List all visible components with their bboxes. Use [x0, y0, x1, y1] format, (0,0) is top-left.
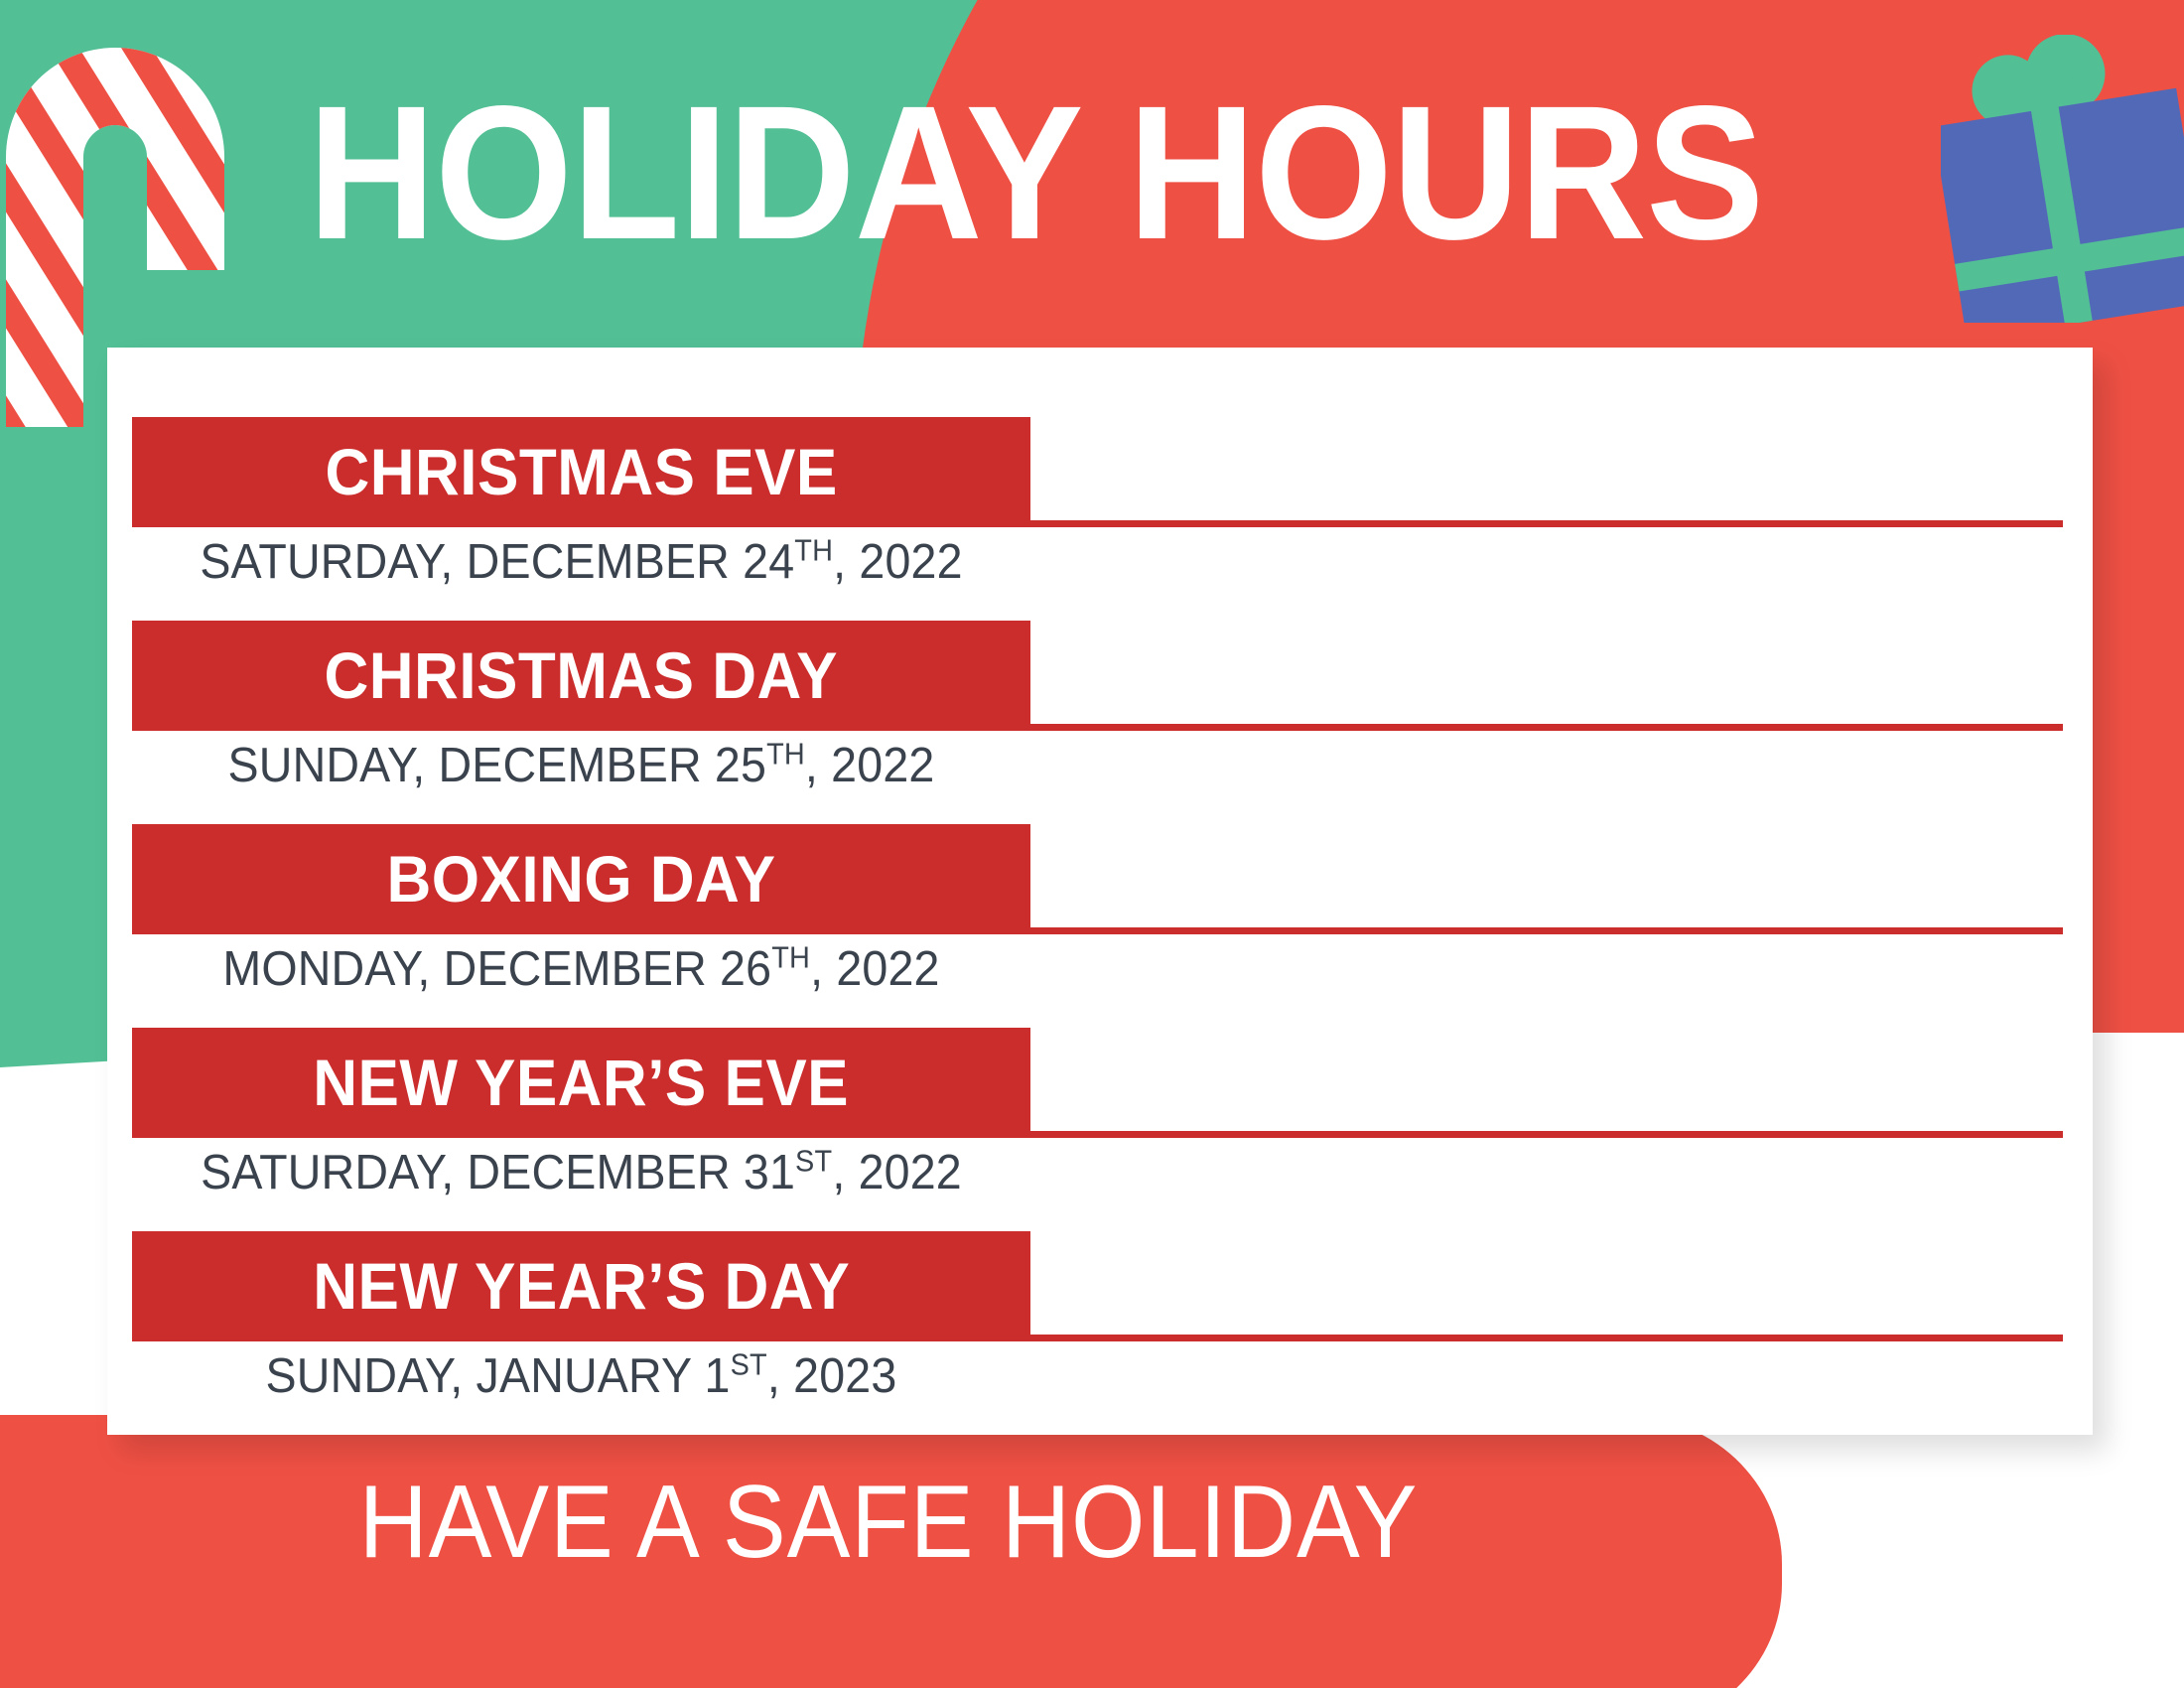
date-year: , 2022 [833, 535, 963, 589]
holiday-date: MONDAY, DECEMBER 26TH, 2022 [155, 937, 1009, 1001]
tagline: HAVE A SAFE HOLIDAY [71, 1468, 1706, 1577]
holiday-date: SATURDAY, DECEMBER 24TH, 2022 [155, 530, 1009, 594]
holiday-name: NEW YEAR’S DAY [313, 1253, 850, 1319]
holiday-label-badge: NEW YEAR’S DAY [132, 1231, 1030, 1340]
holiday-label-badge: NEW YEAR’S EVE [132, 1028, 1030, 1137]
holiday-name: BOXING DAY [387, 846, 776, 912]
date-main: SATURDAY, DECEMBER 24 [200, 535, 794, 589]
gift-box-icon [1941, 35, 2184, 323]
holiday-hours-poster: HOLIDAY HOURS CHRISTMAS EVE SATURDAY, DE… [0, 0, 2184, 1688]
schedule-row: NEW YEAR’S DAY SUNDAY, JANUARY 1ST, 2023 [132, 1231, 2078, 1435]
schedule-row: CHRISTMAS EVE SATURDAY, DECEMBER 24TH, 2… [132, 417, 2078, 621]
date-year: , 2022 [805, 739, 935, 792]
date-ordinal: TH [771, 941, 810, 975]
date-main: SATURDAY, DECEMBER 31 [201, 1146, 795, 1199]
date-main: MONDAY, DECEMBER 26 [222, 942, 771, 996]
date-ordinal: TH [794, 534, 833, 568]
date-main: SUNDAY, DECEMBER 25 [228, 739, 767, 792]
schedule-card: CHRISTMAS EVE SATURDAY, DECEMBER 24TH, 2… [107, 348, 2093, 1435]
holiday-name: NEW YEAR’S EVE [314, 1050, 850, 1115]
date-ordinal: TH [766, 738, 805, 772]
date-year: , 2023 [767, 1349, 897, 1403]
holiday-label-badge: CHRISTMAS DAY [132, 621, 1030, 730]
holiday-name: CHRISTMAS DAY [325, 642, 838, 708]
holiday-date: SUNDAY, JANUARY 1ST, 2023 [155, 1344, 1009, 1408]
holiday-name: CHRISTMAS EVE [325, 439, 837, 504]
holiday-date: SUNDAY, DECEMBER 25TH, 2022 [155, 734, 1009, 797]
date-ordinal: ST [795, 1145, 832, 1179]
date-year: , 2022 [810, 942, 940, 996]
date-year: , 2022 [832, 1146, 962, 1199]
holiday-label-badge: CHRISTMAS EVE [132, 417, 1030, 526]
date-ordinal: ST [731, 1348, 767, 1382]
holiday-label-badge: BOXING DAY [132, 824, 1030, 933]
holiday-date: SATURDAY, DECEMBER 31ST, 2022 [155, 1141, 1009, 1204]
schedule-row: CHRISTMAS DAY SUNDAY, DECEMBER 25TH, 202… [132, 621, 2078, 824]
date-main: SUNDAY, JANUARY 1 [266, 1349, 731, 1403]
schedule-row: NEW YEAR’S EVE SATURDAY, DECEMBER 31ST, … [132, 1028, 2078, 1231]
page-title: HOLIDAY HOURS [308, 77, 1785, 268]
schedule-row: BOXING DAY MONDAY, DECEMBER 26TH, 2022 [132, 824, 2078, 1028]
schedule-rows: CHRISTMAS EVE SATURDAY, DECEMBER 24TH, 2… [132, 417, 2078, 1435]
